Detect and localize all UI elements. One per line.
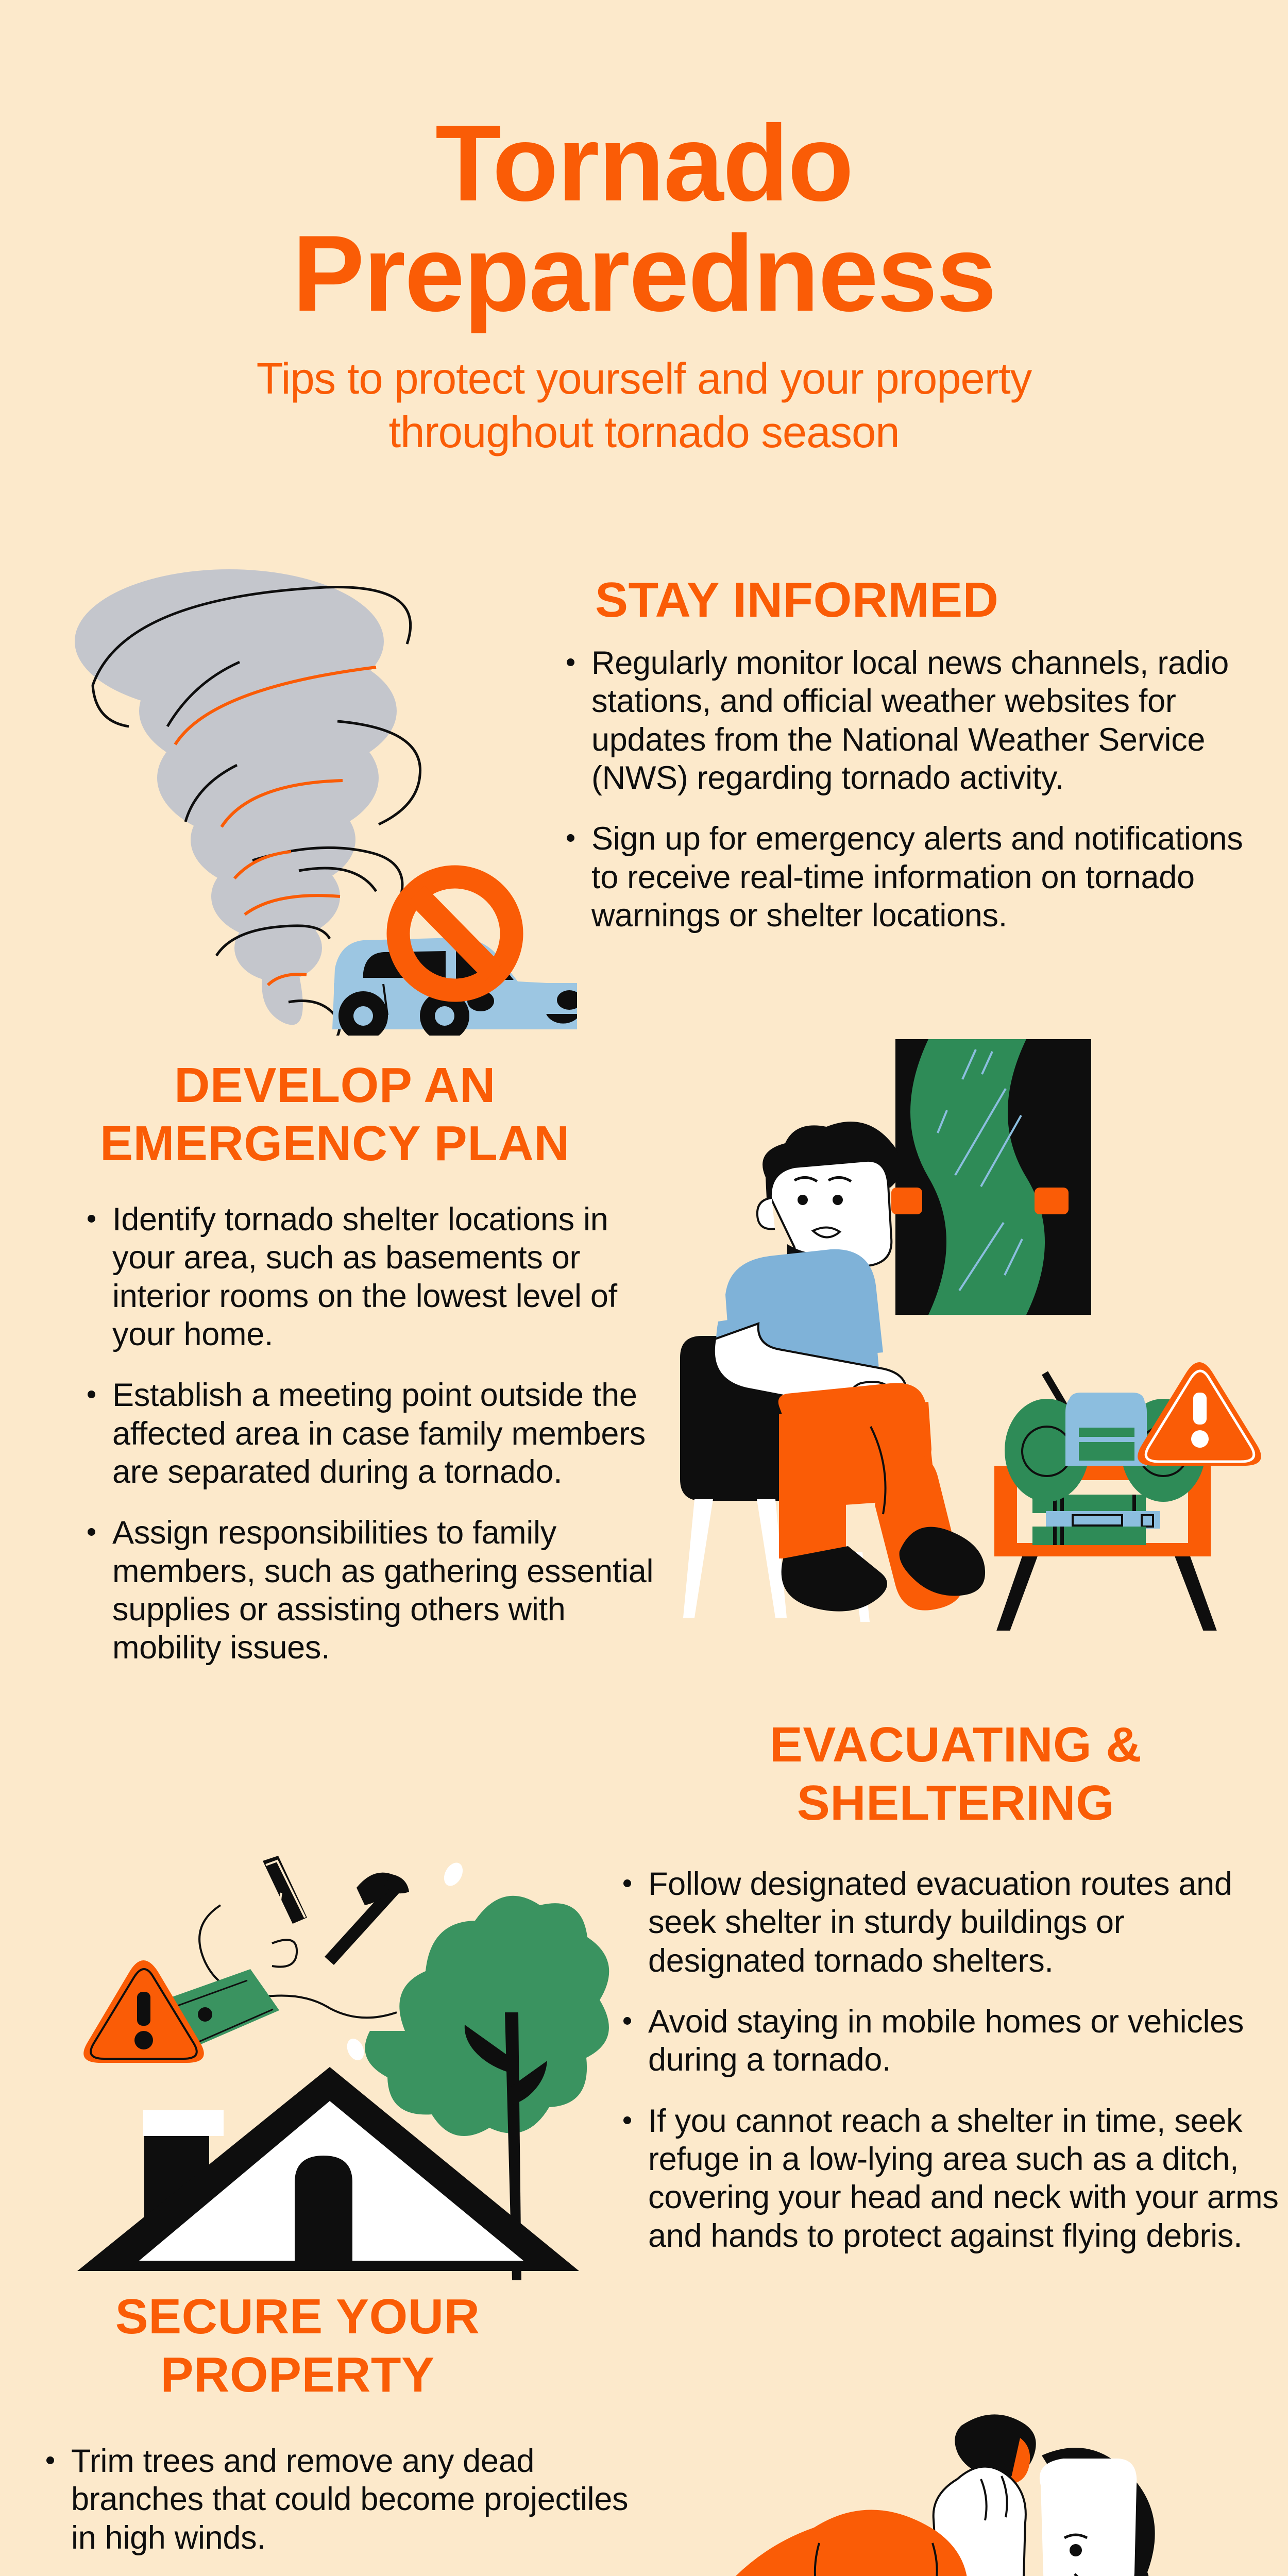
page-title-line-2: Preparedness <box>0 218 1288 329</box>
bullet-list-secure-property: Trim trees and remove any dead branches … <box>41 2442 649 2576</box>
bullet-list-evacuating-sheltering: Follow designated evacuation routes and … <box>618 1865 1283 2255</box>
section-heading-line-1: EVACUATING & <box>665 1716 1247 1774</box>
bullet-list-emergency-plan: Identify tornado shelter locations in yo… <box>82 1200 670 1667</box>
section-heading-line-2: PROPERTY <box>0 2346 595 2404</box>
page-subtitle: Tips to protect yourself and your proper… <box>0 352 1288 459</box>
section-heading-line-1: SECURE YOUR <box>0 2287 595 2346</box>
list-item: Identify tornado shelter locations in yo… <box>82 1200 670 1353</box>
list-item: Trim trees and remove any dead branches … <box>41 2442 649 2557</box>
list-item: Follow designated evacuation routes and … <box>618 1865 1283 1980</box>
list-item: Avoid staying in mobile homes or vehicle… <box>618 2003 1283 2079</box>
tornado-car-illustration <box>21 541 577 1036</box>
list-item: If you cannot reach a shelter in time, s… <box>618 2102 1283 2255</box>
window-icon <box>891 1039 1091 1315</box>
section-heading-emergency-plan: DEVELOP AN EMERGENCY PLAN <box>0 1056 670 1173</box>
man-sitting-illustration <box>665 1023 1288 1631</box>
section-heading-line-2: SHELTERING <box>665 1774 1247 1832</box>
person-crouching-icon <box>659 2414 1155 2576</box>
bullet-list-stay-informed: Regularly monitor local news channels, r… <box>562 644 1270 935</box>
list-item: Establish a meeting point outside the af… <box>82 1376 670 1491</box>
section-heading-line-2: EMERGENCY PLAN <box>0 1114 670 1173</box>
section-heading-secure-property: SECURE YOUR PROPERTY <box>0 2287 595 2404</box>
infographic-poster: Tornado Preparedness Tips to protect you… <box>0 0 1288 2576</box>
page-subtitle-line-2: throughout tornado season <box>0 406 1288 460</box>
warning-triangle-icon <box>83 1960 279 2063</box>
poster-header: Tornado Preparedness Tips to protect you… <box>0 108 1288 460</box>
crouching-person-illustration <box>659 2370 1288 2576</box>
list-item: Assign responsibilities to family member… <box>82 1514 670 1667</box>
section-heading-stay-informed: STAY INFORMED <box>595 571 1255 629</box>
house-debris-illustration <box>41 1829 613 2282</box>
list-item: Sign up for emergency alerts and notific… <box>562 820 1270 935</box>
section-heading-line-1: DEVELOP AN <box>0 1056 670 1114</box>
page-subtitle-line-1: Tips to protect yourself and your proper… <box>0 352 1288 406</box>
section-heading-evacuating-sheltering: EVACUATING & SHELTERING <box>665 1716 1247 1833</box>
list-item: Regularly monitor local news channels, r… <box>562 644 1270 797</box>
page-title-line-1: Tornado <box>0 108 1288 218</box>
